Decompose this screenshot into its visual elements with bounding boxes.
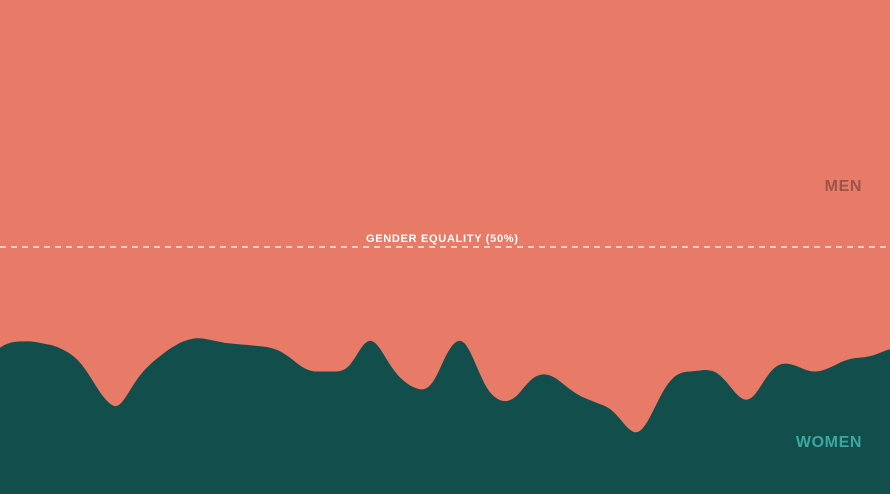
series-label-men: MEN [825,178,862,196]
series-label-women: WOMEN [796,434,862,452]
chart-plot-area [0,0,890,494]
gender-equality-area-chart: GENDER EQUALITY (50%) MEN WOMEN [0,0,890,494]
gender-equality-line-label: GENDER EQUALITY (50%) [366,233,519,245]
